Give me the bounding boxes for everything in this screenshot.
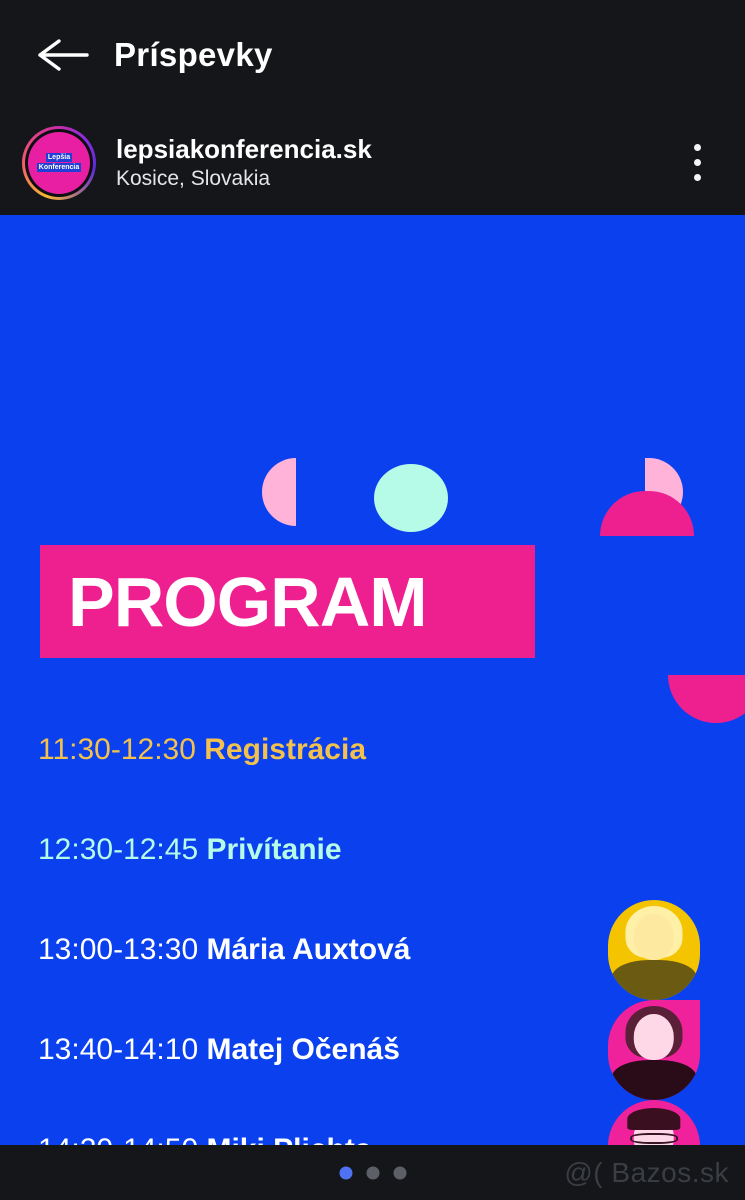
portrait-illustration xyxy=(608,1000,700,1100)
schedule-row: 14:20-14:50 Miki Plichta xyxy=(0,1100,745,1145)
portrait-illustration xyxy=(608,900,700,1000)
watermark: @( Bazos.sk xyxy=(564,1157,729,1189)
vertical-dots-icon[interactable] xyxy=(677,136,717,190)
speaker-photo-matej xyxy=(608,1000,700,1100)
avatar-logo-line2: Konferencia xyxy=(37,163,81,172)
schedule-time: 12:30-12:45 xyxy=(38,833,198,866)
dot xyxy=(694,159,701,166)
avatar[interactable]: Lepšia Konferencia xyxy=(22,126,96,200)
dot xyxy=(694,144,701,151)
speaker-photo-maria xyxy=(608,900,700,1000)
glasses-shape xyxy=(630,1133,678,1144)
schedule-row: 12:30-12:45 Privítanie xyxy=(0,800,745,900)
schedule-row: 13:00-13:30 Mária Auxtová xyxy=(0,900,745,1000)
program-banner-label: PROGRAM xyxy=(68,567,427,637)
page-dot-2[interactable] xyxy=(366,1166,379,1179)
carousel-pagination xyxy=(339,1166,406,1179)
schedule-time: 13:40-14:10 xyxy=(38,1033,198,1066)
schedule-title: Miki Plichta xyxy=(206,1133,371,1145)
footer-bar: @( Bazos.sk xyxy=(0,1145,745,1200)
mint-circle-icon xyxy=(374,464,448,532)
body-shape xyxy=(612,960,697,1000)
schedule-row: 13:40-14:10 Matej Očenáš xyxy=(0,1000,745,1100)
body-shape xyxy=(612,1060,697,1100)
schedule-title: Registrácia xyxy=(204,733,366,766)
app-screen: Príspevky Lepšia Konferencia lepsiakonfe… xyxy=(0,0,745,1200)
head-shape xyxy=(634,1014,674,1060)
top-app-bar: Príspevky xyxy=(0,0,745,110)
speaker-photo-miki xyxy=(608,1100,700,1145)
schedule-time: 13:00-13:30 xyxy=(38,933,198,966)
avatar-logo-line1: Lepšia xyxy=(46,153,72,162)
schedule-title: Matej Očenáš xyxy=(206,1033,399,1066)
post-image[interactable]: PROGRAM 11:30-12:30 Registrácia 12:30-12… xyxy=(0,215,745,1145)
page-dot-1[interactable] xyxy=(339,1166,352,1179)
schedule-time: 11:30-12:30 xyxy=(38,733,196,766)
cap-shape xyxy=(627,1108,680,1130)
head-shape xyxy=(634,914,674,960)
back-arrow-icon[interactable] xyxy=(18,10,108,100)
schedule-title: Privítanie xyxy=(206,833,341,866)
schedule-row: 11:30-12:30 Registrácia xyxy=(0,700,745,800)
account-header: Lepšia Konferencia lepsiakonferencia.sk … xyxy=(0,110,745,215)
avatar-logo: Lepšia Konferencia xyxy=(28,132,90,194)
schedule-title: Mária Auxtová xyxy=(206,933,410,966)
account-location: Kosice, Slovakia xyxy=(116,166,372,192)
page-title: Príspevky xyxy=(114,36,273,74)
program-banner: PROGRAM xyxy=(40,545,535,658)
account-name[interactable]: lepsiakonferencia.sk xyxy=(116,134,372,164)
pink-half-circle-left-icon xyxy=(262,458,296,526)
page-dot-3[interactable] xyxy=(393,1166,406,1179)
schedule-time: 14:20-14:50 xyxy=(38,1133,198,1145)
dot xyxy=(694,174,701,181)
account-text-block: lepsiakonferencia.sk Kosice, Slovakia xyxy=(116,134,372,192)
schedule-list: 11:30-12:30 Registrácia 12:30-12:45 Priv… xyxy=(0,700,745,1145)
portrait-illustration xyxy=(608,1100,700,1145)
avatar-ring-inner: Lepšia Konferencia xyxy=(25,129,93,197)
